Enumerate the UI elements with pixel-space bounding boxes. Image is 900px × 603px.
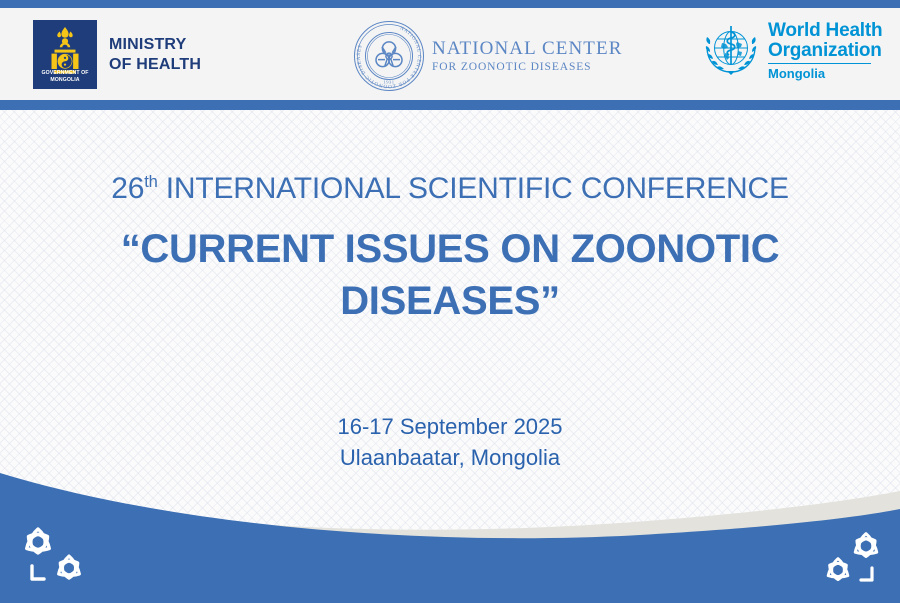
biohazard-seal-icon: NATIONAL CENTER FOR ZOONOTIC DISEASES 19… (352, 19, 426, 93)
nczd-name-line2: FOR ZOONOTIC DISEASES (432, 61, 622, 73)
svg-text:1931: 1931 (383, 80, 394, 85)
conference-number: 26 (111, 172, 144, 205)
who-divider-rule (768, 63, 871, 65)
title-block: 26th INTERNATIONAL SCIENTIFIC CONFERENCE… (0, 110, 900, 473)
bottom-wave-decoration (0, 455, 900, 603)
conference-theme-title: “CURRENT ISSUES ON ZOONOTIC DISEASES” (0, 223, 900, 327)
mongolian-knot-ornament-left (12, 518, 98, 594)
conference-date: 16-17 September 2025 (0, 411, 900, 442)
top-accent-bar (0, 0, 900, 8)
emblem-caption: GOVERNMENT OF MONGOLIA (33, 70, 97, 84)
ministry-of-health-logo: GOVERNMENT OF MONGOLIA MINISTRY OF HEALT… (33, 20, 201, 89)
emblem-caption-line1: GOVERNMENT OF (33, 70, 97, 77)
header-divider-bar (0, 100, 900, 110)
nczd-name: NATIONAL CENTER FOR ZOONOTIC DISEASES (432, 39, 622, 73)
conference-heading: 26th INTERNATIONAL SCIENTIFIC CONFERENCE (0, 171, 900, 207)
who-name-line1: World Health (768, 21, 882, 41)
mongolia-state-emblem-icon: GOVERNMENT OF MONGOLIA (33, 20, 97, 89)
mongolian-knot-ornament-right (812, 524, 890, 594)
ministry-name-line1: MINISTRY (109, 35, 201, 55)
emblem-caption-line2: MONGOLIA (33, 77, 97, 84)
conference-heading-text: INTERNATIONAL SCIENTIFIC CONFERENCE (158, 172, 789, 205)
who-mongolia-logo: World Health Organization Mongolia (700, 20, 882, 82)
conference-ordinal-suffix: th (144, 173, 157, 191)
ministry-of-health-name: MINISTRY OF HEALTH (109, 35, 201, 75)
who-name-line2: Organization (768, 41, 882, 61)
who-country-label: Mongolia (768, 66, 882, 81)
wave-main-layer (0, 473, 900, 603)
who-name-block: World Health Organization Mongolia (768, 21, 882, 82)
who-emblem-icon (700, 20, 762, 82)
ministry-name-line2: OF HEALTH (109, 55, 201, 75)
national-center-zoonotic-diseases-logo: NATIONAL CENTER FOR ZOONOTIC DISEASES 19… (352, 19, 622, 93)
nczd-name-line1: NATIONAL CENTER (432, 39, 622, 59)
conference-title-slide: GOVERNMENT OF MONGOLIA MINISTRY OF HEALT… (0, 0, 900, 603)
